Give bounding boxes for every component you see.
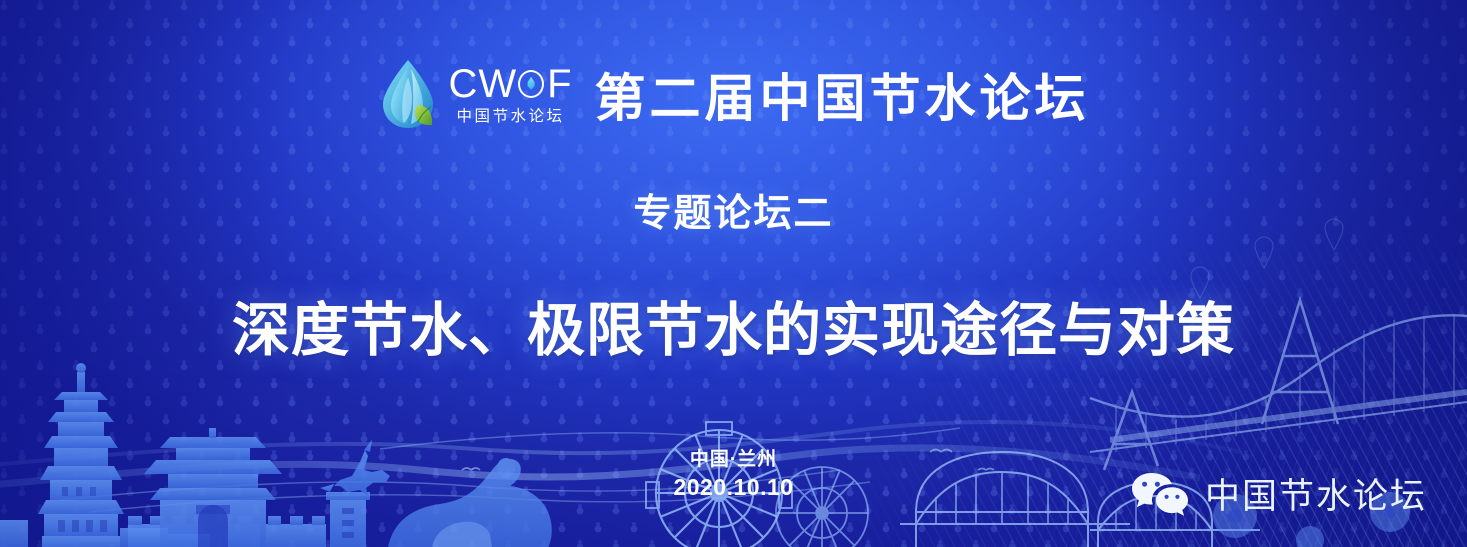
- logo-latin-f: F: [547, 64, 572, 104]
- conference-banner: CW F 中国节水论坛 第二届中国节水论坛 专题论坛二 深度节水、极限节水的实现…: [0, 0, 1467, 547]
- logo-title-row: CW F 中国节水论坛 第二届中国节水论坛: [0, 57, 1467, 131]
- logo-latin-text: CW F: [448, 64, 572, 104]
- cwcf-logo: CW F 中国节水论坛: [377, 57, 572, 131]
- session-subtitle: 专题论坛二: [0, 182, 1467, 237]
- logo-chinese-text: 中国节水论坛: [456, 109, 564, 125]
- logo-latin-cw: CW: [448, 64, 517, 104]
- forum-title: 第二届中国节水论坛: [595, 57, 1090, 131]
- session-headline: 深度节水、极限节水的实现途径与对策: [0, 283, 1467, 367]
- water-drop-logo-icon: [377, 57, 439, 131]
- wechat-account-block: 中国节水论坛: [1131, 468, 1427, 519]
- wechat-icon: [1131, 471, 1189, 517]
- logo-o-with-droplet: [517, 64, 547, 104]
- logo-wordmark: CW F 中国节水论坛: [448, 64, 572, 125]
- wechat-account-name: 中国节水论坛: [1205, 468, 1427, 519]
